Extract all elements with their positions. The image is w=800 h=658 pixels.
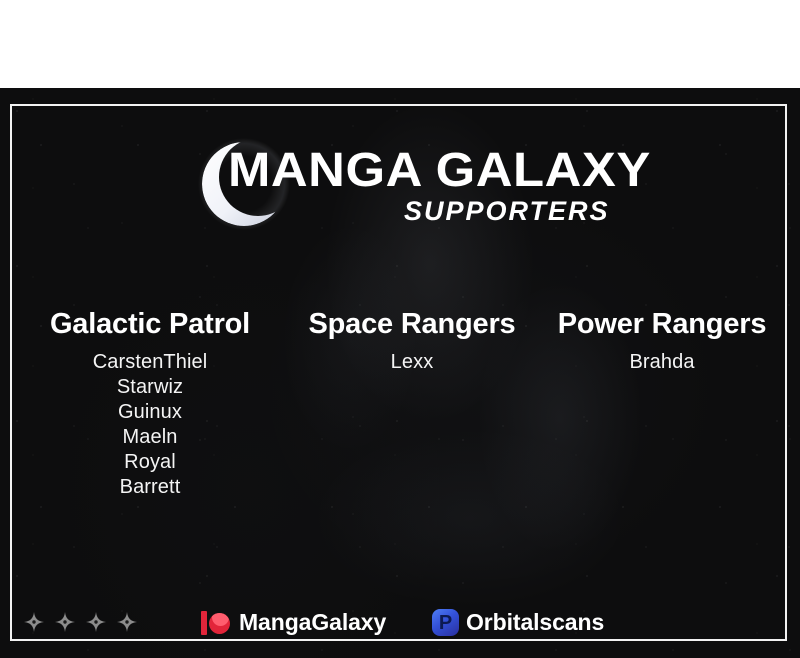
supporters-poster: MANGA GALAXY SUPPORTERS Galactic Patrol …	[0, 88, 800, 658]
partner-label: MangaGalaxy	[239, 609, 386, 636]
brand-subtitle: SUPPORTERS	[228, 196, 648, 226]
brand-title: MANGA GALAXY	[228, 144, 673, 198]
tier-title: Galactic Patrol	[14, 306, 286, 342]
tier-name-list: Lexx	[292, 350, 532, 375]
tier-column-galactic-patrol: Galactic Patrol CarstenThiel Starwiz Gui…	[14, 306, 286, 500]
top-white-gutter	[0, 0, 800, 88]
supporter-name: Starwiz	[14, 375, 286, 400]
supporter-tier-columns: Galactic Patrol CarstenThiel Starwiz Gui…	[14, 306, 786, 500]
brand-lockup: MANGA GALAXY SUPPORTERS	[0, 126, 800, 252]
tier-title: Power Rangers	[538, 306, 786, 342]
orbitalscans-logo-icon: P	[432, 609, 459, 636]
partner-orbitalscans[interactable]: P Orbitalscans	[432, 609, 604, 636]
sparkle-star-icon	[86, 612, 106, 632]
supporter-name: Guinux	[14, 400, 286, 425]
supporter-name: CarstenThiel	[14, 350, 286, 375]
tier-name-list: CarstenThiel Starwiz Guinux Maeln Royal …	[14, 350, 286, 500]
tier-column-space-rangers: Space Rangers Lexx	[292, 306, 532, 375]
supporter-name: Brahda	[538, 350, 786, 375]
poster-footer: MangaGalaxy P Orbitalscans	[0, 602, 800, 648]
page-root: MANGA GALAXY SUPPORTERS Galactic Patrol …	[0, 0, 800, 658]
tier-name-list: Brahda	[538, 350, 786, 375]
supporter-name: Barrett	[14, 475, 286, 500]
supporter-name: Maeln	[14, 425, 286, 450]
brand-text-group: MANGA GALAXY SUPPORTERS	[228, 144, 648, 226]
sparkle-decoration-group	[24, 612, 137, 632]
mangagalaxy-logo-icon	[200, 610, 232, 636]
orbitalscans-glyph: P	[432, 609, 459, 636]
sparkle-star-icon	[117, 612, 137, 632]
sparkle-star-icon	[55, 612, 75, 632]
supporter-name: Royal	[14, 450, 286, 475]
supporter-name: Lexx	[292, 350, 532, 375]
partner-mangagalaxy[interactable]: MangaGalaxy	[200, 609, 386, 636]
partner-label: Orbitalscans	[466, 609, 604, 636]
sparkle-star-icon	[24, 612, 44, 632]
tier-column-power-rangers: Power Rangers Brahda	[538, 306, 786, 375]
tier-title: Space Rangers	[292, 306, 532, 342]
